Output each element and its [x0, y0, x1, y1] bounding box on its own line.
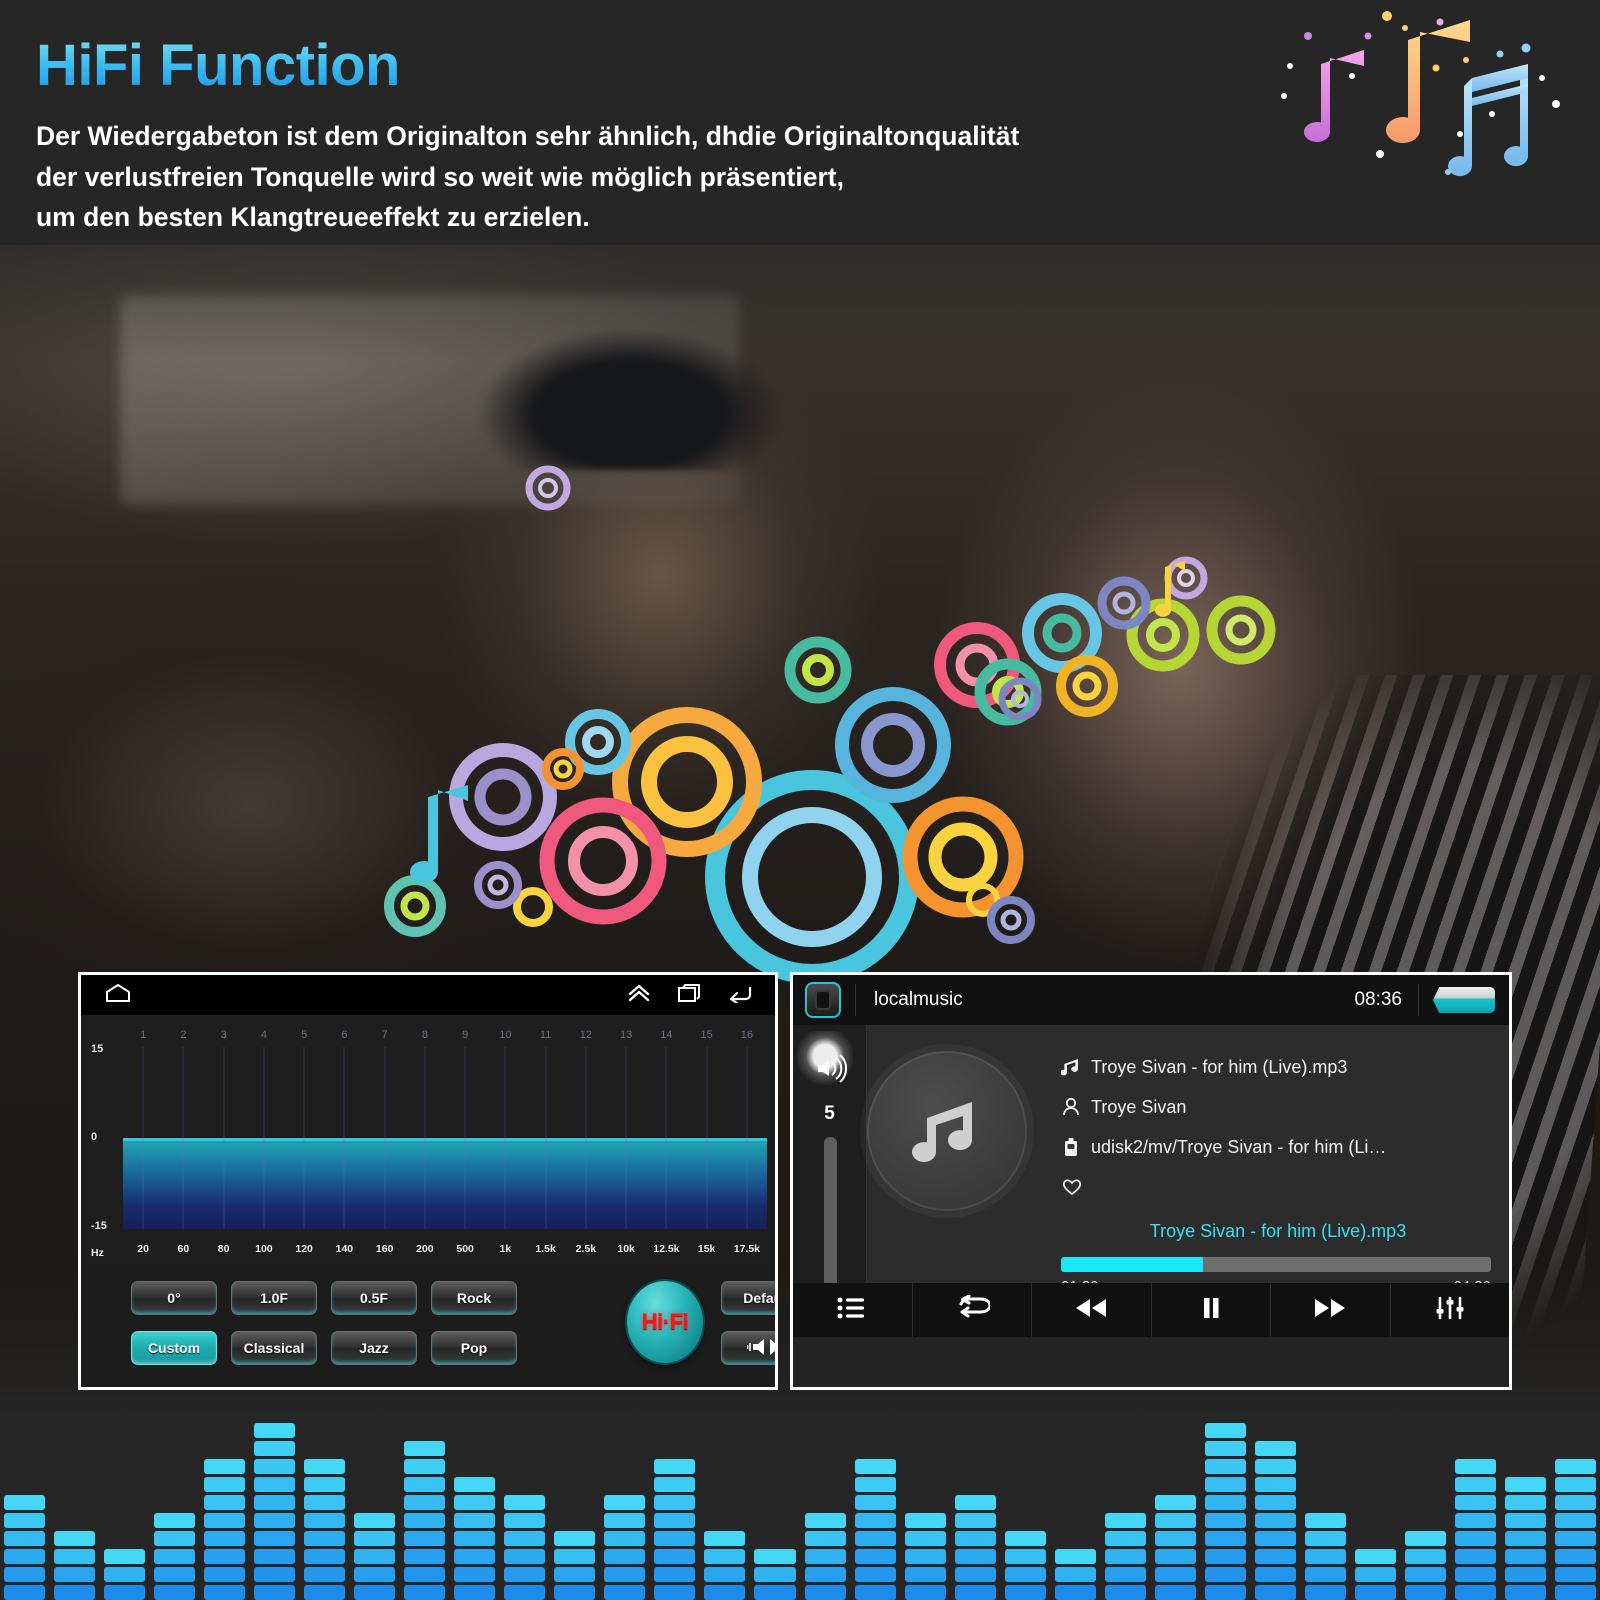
- spectrum-segment: [454, 1477, 495, 1492]
- spectrum-segment: [204, 1567, 245, 1582]
- spectrum-segment: [454, 1567, 495, 1582]
- spectrum-segment: [1205, 1531, 1246, 1546]
- previous-button[interactable]: [1032, 1283, 1152, 1337]
- spectrum-segment: [1205, 1423, 1246, 1438]
- eq-band-number: 13: [620, 1029, 632, 1041]
- spectrum-segment: [855, 1459, 896, 1474]
- spectrum-segment: [1555, 1531, 1596, 1546]
- spectrum-segment: [1305, 1513, 1346, 1528]
- spectrum-bar: [704, 1531, 745, 1600]
- equalizer-graph[interactable]: 15 0 -15 12345678910111213141516 Hz 2060…: [81, 1015, 775, 1265]
- subtitle-line-2: der verlustfreien Tonquelle wird so weit…: [36, 157, 1216, 197]
- speaker-balance-icon: [747, 1336, 778, 1361]
- spectrum-segment: [204, 1513, 245, 1528]
- eq-y-top-label: 15: [91, 1043, 103, 1055]
- spectrum-segment: [805, 1585, 846, 1600]
- spectrum-segment: [204, 1495, 245, 1510]
- spectrum-segment: [1355, 1585, 1396, 1600]
- spectrum-segment: [304, 1585, 345, 1600]
- spectrum-bar: [1455, 1459, 1496, 1600]
- volume-icon[interactable]: [817, 1053, 851, 1088]
- spectrum-segment: [1105, 1585, 1146, 1600]
- spectrum-segment: [1255, 1495, 1296, 1510]
- spectrum-segment: [154, 1513, 195, 1528]
- spectrum-segment: [4, 1531, 45, 1546]
- spectrum-segment: [54, 1585, 95, 1600]
- spectrum-segment: [855, 1477, 896, 1492]
- track-metadata: Troye Sivan - for him (Live).mp3 Troye S…: [1061, 1047, 1495, 1207]
- spectrum-segment: [1305, 1531, 1346, 1546]
- spectrum-segment: [1505, 1513, 1546, 1528]
- preset-button-custom[interactable]: Custom: [131, 1331, 217, 1365]
- spectrum-segment: [504, 1585, 545, 1600]
- spectrum-segment: [204, 1549, 245, 1564]
- ring-green-lower-left: [389, 880, 441, 932]
- eq-band-gridline: [304, 1047, 305, 1229]
- spectrum-bar: [504, 1495, 545, 1600]
- spectrum-segment: [254, 1531, 295, 1546]
- spectrum-segment: [654, 1585, 695, 1600]
- spectrum-bar: [454, 1477, 495, 1600]
- now-playing-title: Troye Sivan - for him (Live).mp3: [1061, 1221, 1495, 1242]
- clock-label: 08:36: [1354, 989, 1402, 1011]
- ring-yellow-tiny-2: [517, 891, 549, 923]
- ring-pink-large: [547, 805, 659, 917]
- spectrum-segment: [154, 1585, 195, 1600]
- previous-icon: [1071, 1295, 1111, 1326]
- spectrum-segment: [1255, 1513, 1296, 1528]
- spectrum-segment: [54, 1549, 95, 1564]
- eq-band-number: 1: [140, 1029, 146, 1041]
- hifi-badge-label: Hi·Fi: [642, 1309, 688, 1335]
- spectrum-segment: [1255, 1459, 1296, 1474]
- spectrum-bar: [354, 1513, 395, 1600]
- spectrum-bar: [855, 1459, 896, 1600]
- eq-frequency-label: 15k: [698, 1243, 716, 1255]
- spectrum-segment: [855, 1531, 896, 1546]
- eq-response-fill: [123, 1138, 767, 1229]
- spectrum-segment: [654, 1459, 695, 1474]
- spectrum-segment: [704, 1585, 745, 1600]
- spectrum-bar: [1305, 1513, 1346, 1600]
- chevron-up-icon[interactable]: [627, 983, 651, 1008]
- eq-band-number: 16: [741, 1029, 753, 1041]
- spectrum-segment: [204, 1531, 245, 1546]
- spectrum-segment: [1555, 1477, 1596, 1492]
- eq-response-line: [123, 1138, 767, 1141]
- spectrum-segment: [1155, 1531, 1196, 1546]
- home-icon[interactable]: [103, 982, 133, 1009]
- battery-icon: [1433, 987, 1495, 1013]
- spectrum-segment: [354, 1513, 395, 1528]
- spectrum-segment: [1505, 1531, 1546, 1546]
- spectrum-segment: [354, 1567, 395, 1582]
- spectrum-segment: [604, 1531, 645, 1546]
- music-player-body: 5 Troye Sivan - for him: [793, 1025, 1509, 1337]
- spectrum-segment: [54, 1531, 95, 1546]
- android-navigation-bar: [81, 975, 775, 1015]
- eq-frequency-label: 10k: [617, 1243, 635, 1255]
- spectrum-segment: [254, 1513, 295, 1528]
- preset-button-classical[interactable]: Classical: [231, 1331, 317, 1365]
- repeat-icon: [954, 1295, 990, 1326]
- spectrum-segment: [1405, 1531, 1446, 1546]
- recents-icon[interactable]: [677, 983, 701, 1008]
- eq-band-gridline: [465, 1047, 466, 1229]
- spectrum-bar: [1105, 1513, 1146, 1600]
- spectrum-bar: [404, 1441, 445, 1600]
- spectrum-segment: [955, 1549, 996, 1564]
- spectrum-segment: [204, 1459, 245, 1474]
- spectrum-segment: [4, 1549, 45, 1564]
- spectrum-segment: [154, 1567, 195, 1582]
- eq-band-gridline: [424, 1047, 425, 1229]
- subtitle-line-1: Der Wiedergabeton ist dem Originalton se…: [36, 116, 1216, 156]
- eq-frequency-label: 140: [336, 1243, 354, 1255]
- spectrum-segment: [704, 1567, 745, 1582]
- eq-y-bottom-label: -15: [91, 1220, 107, 1232]
- spectrum-segment: [1105, 1549, 1146, 1564]
- spectrum-segment: [1455, 1477, 1496, 1492]
- spectrum-segment: [1155, 1495, 1196, 1510]
- spectrum-segment: [1455, 1585, 1496, 1600]
- spectrum-segment: [1105, 1567, 1146, 1582]
- spectrum-segment: [955, 1495, 996, 1510]
- spectrum-segment: [1455, 1531, 1496, 1546]
- eq-band-gridline: [143, 1047, 144, 1229]
- spectrum-segment: [654, 1567, 695, 1582]
- spectrum-segment: [354, 1549, 395, 1564]
- eq-band-gridline: [626, 1047, 627, 1229]
- spectrum-segment: [254, 1441, 295, 1456]
- spectrum-segment: [4, 1567, 45, 1582]
- spectrum-segment: [4, 1513, 45, 1528]
- spectrum-segment: [254, 1567, 295, 1582]
- spectrum-segment: [1205, 1459, 1246, 1474]
- eq-frequency-label: 60: [178, 1243, 190, 1255]
- spectrum-bar: [254, 1423, 295, 1600]
- eq-band-gridline: [545, 1047, 546, 1229]
- spectrum-segment: [204, 1585, 245, 1600]
- spectrum-bar: [1155, 1495, 1196, 1600]
- back-icon[interactable]: [727, 983, 753, 1008]
- spectrum-segment: [504, 1549, 545, 1564]
- spectrum-segment: [1305, 1549, 1346, 1564]
- preset-button-0deg[interactable]: 0°: [131, 1281, 217, 1315]
- spectrum-segment: [1455, 1459, 1496, 1474]
- spectrum-segment: [1105, 1531, 1146, 1546]
- spectrum-segment: [604, 1567, 645, 1582]
- spectrum-segment: [4, 1495, 45, 1510]
- ring-yellow-tiny-1: [546, 752, 580, 786]
- spectrum-segment: [704, 1531, 745, 1546]
- spectrum-segment: [404, 1495, 445, 1510]
- equalizer-icon: [1434, 1295, 1466, 1326]
- repeat-button[interactable]: [913, 1283, 1033, 1337]
- spectrum-segment: [554, 1549, 595, 1564]
- spectrum-segment: [905, 1531, 946, 1546]
- spectrum-bar: [654, 1459, 695, 1600]
- progress-bar-fill: [1061, 1257, 1203, 1272]
- spectrum-segment: [354, 1585, 395, 1600]
- app-logo-icon[interactable]: [805, 982, 841, 1018]
- eq-band-number: 3: [221, 1029, 227, 1041]
- preset-button-0-5f[interactable]: 0.5F: [331, 1281, 417, 1315]
- music-note-icon: [910, 1090, 984, 1173]
- spectrum-segment: [254, 1495, 295, 1510]
- spectrum-segment: [1455, 1495, 1496, 1510]
- metadata-row-title: Troye Sivan - for him (Live).mp3: [1061, 1047, 1495, 1087]
- spectrum-segment: [54, 1567, 95, 1582]
- spectrum-bar: [4, 1495, 45, 1600]
- spectrum-segment: [1555, 1549, 1596, 1564]
- ring-orange-right: [910, 804, 1016, 910]
- spectrum-segment: [1505, 1585, 1546, 1600]
- spectrum-segment: [254, 1549, 295, 1564]
- progress-bar[interactable]: [1061, 1257, 1491, 1272]
- spectrum-segment: [404, 1513, 445, 1528]
- spectrum-segment: [254, 1459, 295, 1474]
- spectrum-segment: [104, 1567, 145, 1582]
- spectrum-segment: [404, 1585, 445, 1600]
- spectrum-segment: [104, 1549, 145, 1564]
- spectrum-bar: [154, 1513, 195, 1600]
- eq-band-number: 12: [580, 1029, 592, 1041]
- eq-band-number: 14: [660, 1029, 672, 1041]
- spectrum-bar: [1255, 1441, 1296, 1600]
- pause-button[interactable]: [1152, 1283, 1272, 1337]
- subtitle-line-3: um den besten Klangtreueeffekt zu erziel…: [36, 197, 1216, 237]
- spectrum-bar: [1405, 1531, 1446, 1600]
- music-player-panel: localmusic 08:36 5: [790, 972, 1512, 1390]
- spectrum-segment: [4, 1585, 45, 1600]
- spectrum-segment: [1555, 1495, 1596, 1510]
- hifi-badge-button[interactable]: Hi·Fi: [627, 1281, 703, 1363]
- spectrum-segment: [1205, 1495, 1246, 1510]
- eq-band-number: 5: [301, 1029, 307, 1041]
- playlist-icon: [836, 1295, 868, 1326]
- eq-plot-area[interactable]: [123, 1047, 767, 1229]
- ring-cluster-upper-right: [1002, 560, 1270, 717]
- spectrum-bar: [1205, 1423, 1246, 1600]
- spectrum-segment: [504, 1531, 545, 1546]
- spectrum-segment: [654, 1531, 695, 1546]
- spectrum-segment: [1355, 1549, 1396, 1564]
- eq-band-gridline: [706, 1047, 707, 1229]
- spectrum-segment: [304, 1567, 345, 1582]
- eq-band-number: 9: [462, 1029, 468, 1041]
- spectrum-segment: [805, 1549, 846, 1564]
- playback-controls: [793, 1283, 1509, 1337]
- spectrum-segment: [654, 1495, 695, 1510]
- eq-band-number: 8: [422, 1029, 428, 1041]
- volume-level-label: 5: [793, 1103, 866, 1125]
- spectrum-segment: [1455, 1567, 1496, 1582]
- source-name: localmusic: [874, 989, 1354, 1011]
- spectrum-segment: [1355, 1567, 1396, 1582]
- spectrum-segment: [1005, 1585, 1046, 1600]
- usb-drive-icon: [1061, 1136, 1091, 1158]
- spectrum-segment: [955, 1567, 996, 1582]
- eq-band-gridline: [344, 1047, 345, 1229]
- spectrum-segment: [254, 1423, 295, 1438]
- album-art: [867, 1051, 1027, 1211]
- ring-purple-tiny-1: [478, 865, 518, 905]
- spectrum-segment: [304, 1513, 345, 1528]
- eq-frequency-label: 17.5k: [734, 1243, 760, 1255]
- spectrum-segment: [1105, 1513, 1146, 1528]
- eq-y-mid-label: 0: [91, 1131, 97, 1143]
- pause-icon: [1197, 1295, 1225, 1326]
- spectrum-segment: [454, 1585, 495, 1600]
- preset-button-1-0f[interactable]: 1.0F: [231, 1281, 317, 1315]
- spectrum-segment: [504, 1513, 545, 1528]
- spectrum-segment: [504, 1495, 545, 1510]
- eq-frequency-label: 2.5k: [576, 1243, 596, 1255]
- spectrum-segment: [354, 1531, 395, 1546]
- spectrum-bar: [304, 1459, 345, 1600]
- music-notes-decoration: [1260, 6, 1580, 206]
- spectrum-segment: [404, 1567, 445, 1582]
- heart-icon[interactable]: [1061, 1177, 1091, 1197]
- eq-frequency-label: 20: [137, 1243, 149, 1255]
- eq-band-numbers: 12345678910111213141516: [123, 1029, 767, 1045]
- spectrum-segment: [404, 1459, 445, 1474]
- spectrum-segment: [1205, 1585, 1246, 1600]
- eq-frequency-label: 1k: [500, 1243, 512, 1255]
- spectrum-segment: [304, 1549, 345, 1564]
- spectrum-segment: [1255, 1567, 1296, 1582]
- spectrum-segment: [1205, 1513, 1246, 1528]
- spectrum-segment: [1205, 1549, 1246, 1564]
- next-icon: [1310, 1295, 1350, 1326]
- eq-band-gridline: [746, 1047, 747, 1229]
- spectrum-bar: [955, 1495, 996, 1600]
- spectrum-segment: [905, 1585, 946, 1600]
- note-orange-icon: [1386, 20, 1470, 143]
- eq-band-gridline: [384, 1047, 385, 1229]
- equalizer-panel: 15 0 -15 12345678910111213141516 Hz 2060…: [78, 972, 778, 1390]
- spectrum-segment: [704, 1549, 745, 1564]
- spectrum-segment: [1055, 1585, 1096, 1600]
- spectrum-segment: [1555, 1567, 1596, 1582]
- spectrum-segment: [554, 1567, 595, 1582]
- eq-frequency-label: 120: [295, 1243, 313, 1255]
- spectrum-segment: [1155, 1513, 1196, 1528]
- eq-frequency-label: 12.5k: [653, 1243, 679, 1255]
- spectrum-segment: [1555, 1513, 1596, 1528]
- spectrum-segment: [1255, 1531, 1296, 1546]
- preset-button-pop[interactable]: Pop: [431, 1331, 517, 1365]
- spectrum-bar: [1005, 1531, 1046, 1600]
- spectrum-segment: [1555, 1459, 1596, 1474]
- eq-band-number: 10: [499, 1029, 511, 1041]
- spectrum-segment: [1405, 1549, 1446, 1564]
- spectrum-segment: [805, 1531, 846, 1546]
- music-note-icon: [1061, 1056, 1091, 1078]
- eq-band-gridline: [263, 1047, 264, 1229]
- spectrum-segment: [154, 1549, 195, 1564]
- eq-band-number: 7: [382, 1029, 388, 1041]
- spectrum-segment: [855, 1549, 896, 1564]
- spectrum-segment: [404, 1441, 445, 1456]
- spectrum-segment: [654, 1513, 695, 1528]
- spectrum-segment: [404, 1477, 445, 1492]
- titlebar-divider: [855, 984, 856, 1016]
- spectrum-segment: [1505, 1567, 1546, 1582]
- spectrum-segment: [1455, 1549, 1496, 1564]
- eq-frequency-label: 100: [255, 1243, 273, 1255]
- spectrum-segment: [1505, 1495, 1546, 1510]
- spectrum-segment: [805, 1567, 846, 1582]
- spectrum-segment: [754, 1585, 795, 1600]
- spectrum-segment: [1255, 1477, 1296, 1492]
- ring-green-small: [790, 642, 846, 698]
- spectrum-segment: [955, 1513, 996, 1528]
- spectrum-segment: [1255, 1441, 1296, 1456]
- spectrum-segment: [955, 1531, 996, 1546]
- spectrum-segment: [604, 1495, 645, 1510]
- titlebar-divider-2: [1418, 984, 1419, 1016]
- spectrum-segment: [304, 1531, 345, 1546]
- spectrum-segment: [905, 1567, 946, 1582]
- spectrum-segment: [304, 1459, 345, 1474]
- metadata-row-path: udisk2/mv/Troye Sivan - for him (Li…: [1061, 1127, 1495, 1167]
- spectrum-segment: [654, 1477, 695, 1492]
- metadata-row-artist: Troye Sivan: [1061, 1087, 1495, 1127]
- spectrum-segment: [1055, 1549, 1096, 1564]
- speaker-balance-button[interactable]: [721, 1331, 778, 1365]
- spectrum-segment: [1005, 1531, 1046, 1546]
- playlist-button[interactable]: [793, 1283, 913, 1337]
- spectrum-segment: [955, 1585, 996, 1600]
- spectrum-segment: [404, 1531, 445, 1546]
- metadata-row-favorite[interactable]: [1061, 1167, 1495, 1207]
- eq-band-number: 15: [701, 1029, 713, 1041]
- spectrum-segment: [754, 1567, 795, 1582]
- spectrum-segment: [604, 1549, 645, 1564]
- default-button[interactable]: Default: [721, 1281, 778, 1315]
- spectrum-segment: [855, 1567, 896, 1582]
- spectrum-segment: [855, 1495, 896, 1510]
- spectrum-segment: [905, 1513, 946, 1528]
- equalizer-button[interactable]: [1391, 1283, 1510, 1337]
- music-player-titlebar: localmusic 08:36: [793, 975, 1509, 1025]
- note-pink-icon: [1304, 50, 1364, 142]
- hifi-function-page: HiFi Function Der Wiedergabeton ist dem …: [0, 0, 1600, 1600]
- spectrum-bar: [104, 1549, 145, 1600]
- eq-band-gridline: [183, 1047, 184, 1229]
- spectrum-segment: [1155, 1549, 1196, 1564]
- preset-button-jazz[interactable]: Jazz: [331, 1331, 417, 1365]
- preset-button-rock[interactable]: Rock: [431, 1281, 517, 1315]
- header: HiFi Function Der Wiedergabeton ist dem …: [36, 32, 1216, 237]
- eq-frequency-label: 500: [456, 1243, 474, 1255]
- eq-frequency-label: 80: [218, 1243, 230, 1255]
- spectrum-bar: [1355, 1549, 1396, 1600]
- page-subtitle: Der Wiedergabeton ist dem Originalton se…: [36, 116, 1216, 237]
- next-button[interactable]: [1271, 1283, 1391, 1337]
- ring-purple-tiny-3: [529, 469, 567, 507]
- ring-blue-mid: [842, 694, 944, 796]
- metadata-title: Troye Sivan - for him (Live).mp3: [1091, 1057, 1347, 1078]
- spectrum-bar: [1555, 1459, 1596, 1600]
- eq-band-gridline: [585, 1047, 586, 1229]
- spectrum-segment: [805, 1513, 846, 1528]
- spectrum-segment: [1405, 1585, 1446, 1600]
- spectrum-segment: [654, 1549, 695, 1564]
- eq-hz-unit-label: Hz: [91, 1247, 104, 1259]
